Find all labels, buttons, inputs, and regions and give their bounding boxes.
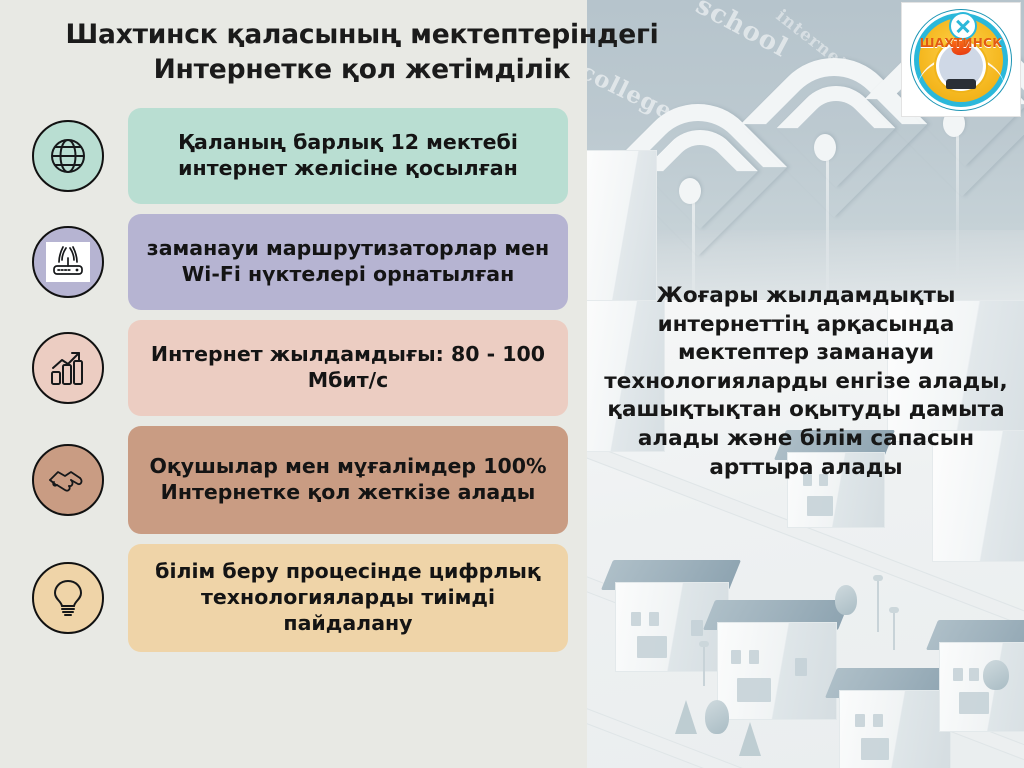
fact-card-2: заманауи маршрутизаторлар мен Wi-Fi нүкт… bbox=[128, 214, 568, 310]
house-4 bbox=[939, 620, 1024, 730]
fact-row-3: Интернет жылдамдығы: 80 - 100 Мбит/с bbox=[0, 320, 600, 416]
house-2 bbox=[717, 600, 835, 718]
city-logo: ШАХТИНСК bbox=[901, 2, 1021, 117]
fact-row-4: Оқушылар мен мұғалімдер 100% Интернетке … bbox=[0, 426, 600, 534]
fact-card-4: Оқушылар мен мұғалімдер 100% Интернетке … bbox=[128, 426, 568, 534]
fact-card-2-text: заманауи маршрутизаторлар мен Wi-Fi нүкт… bbox=[146, 236, 550, 288]
fact-row-1: Қаланың барлық 12 мектебі интернет желіс… bbox=[0, 108, 600, 204]
wifi-router-icon bbox=[32, 226, 104, 298]
fact-card-3: Интернет жылдамдығы: 80 - 100 Мбит/с bbox=[128, 320, 568, 416]
tree-round-1 bbox=[705, 700, 729, 734]
infographic-canvas: school college internet bbox=[0, 0, 1024, 768]
tree-cone-1 bbox=[675, 700, 697, 734]
fact-card-4-text: Оқушылар мен мұғалімдер 100% Интернетке … bbox=[146, 454, 550, 506]
globe-icon bbox=[32, 120, 104, 192]
fact-card-list: Қаланың барлық 12 мектебі интернет желіс… bbox=[0, 108, 600, 662]
house-3 bbox=[839, 668, 949, 768]
fact-card-5-text: білім беру процесінде цифрлық технология… bbox=[146, 559, 550, 636]
fact-card-1: Қаланың барлық 12 мектебі интернет желіс… bbox=[128, 108, 568, 204]
summary-paragraph: Жоғары жылдамдықты интернеттің арқасында… bbox=[588, 282, 1024, 482]
lightbulb-icon bbox=[32, 562, 104, 634]
page-title-line-2: Интернетке қол жетімділік bbox=[62, 53, 662, 88]
wifi-marker-center bbox=[762, 50, 892, 170]
tree-round-3 bbox=[835, 585, 857, 615]
street-lamp-1 bbox=[703, 646, 705, 686]
tree-round-2 bbox=[983, 660, 1009, 690]
fact-row-2: заманауи маршрутизаторлар мен Wi-Fi нүкт… bbox=[0, 214, 600, 310]
city-crest-icon: ШАХТИНСК bbox=[909, 8, 1013, 112]
tree-cone-2 bbox=[739, 722, 761, 756]
fact-card-3-text: Интернет жылдамдығы: 80 - 100 Мбит/с bbox=[146, 342, 550, 394]
handshake-icon bbox=[32, 444, 104, 516]
fact-card-1-text: Қаланың барлық 12 мектебі интернет желіс… bbox=[146, 130, 550, 182]
utility-pole bbox=[877, 580, 879, 632]
fact-row-5: білім беру процесінде цифрлық технология… bbox=[0, 544, 600, 652]
street-lamp-2 bbox=[893, 612, 895, 650]
city-logo-label: ШАХТИНСК bbox=[909, 36, 1013, 50]
page-title: Шахтинск қаласының мектептеріндегі Интер… bbox=[62, 18, 662, 88]
fact-card-5: білім беру процесінде цифрлық технология… bbox=[128, 544, 568, 652]
growth-chart-icon bbox=[32, 332, 104, 404]
page-title-line-1: Шахтинск қаласының мектептеріндегі bbox=[62, 18, 662, 53]
coal-icon bbox=[946, 79, 976, 89]
